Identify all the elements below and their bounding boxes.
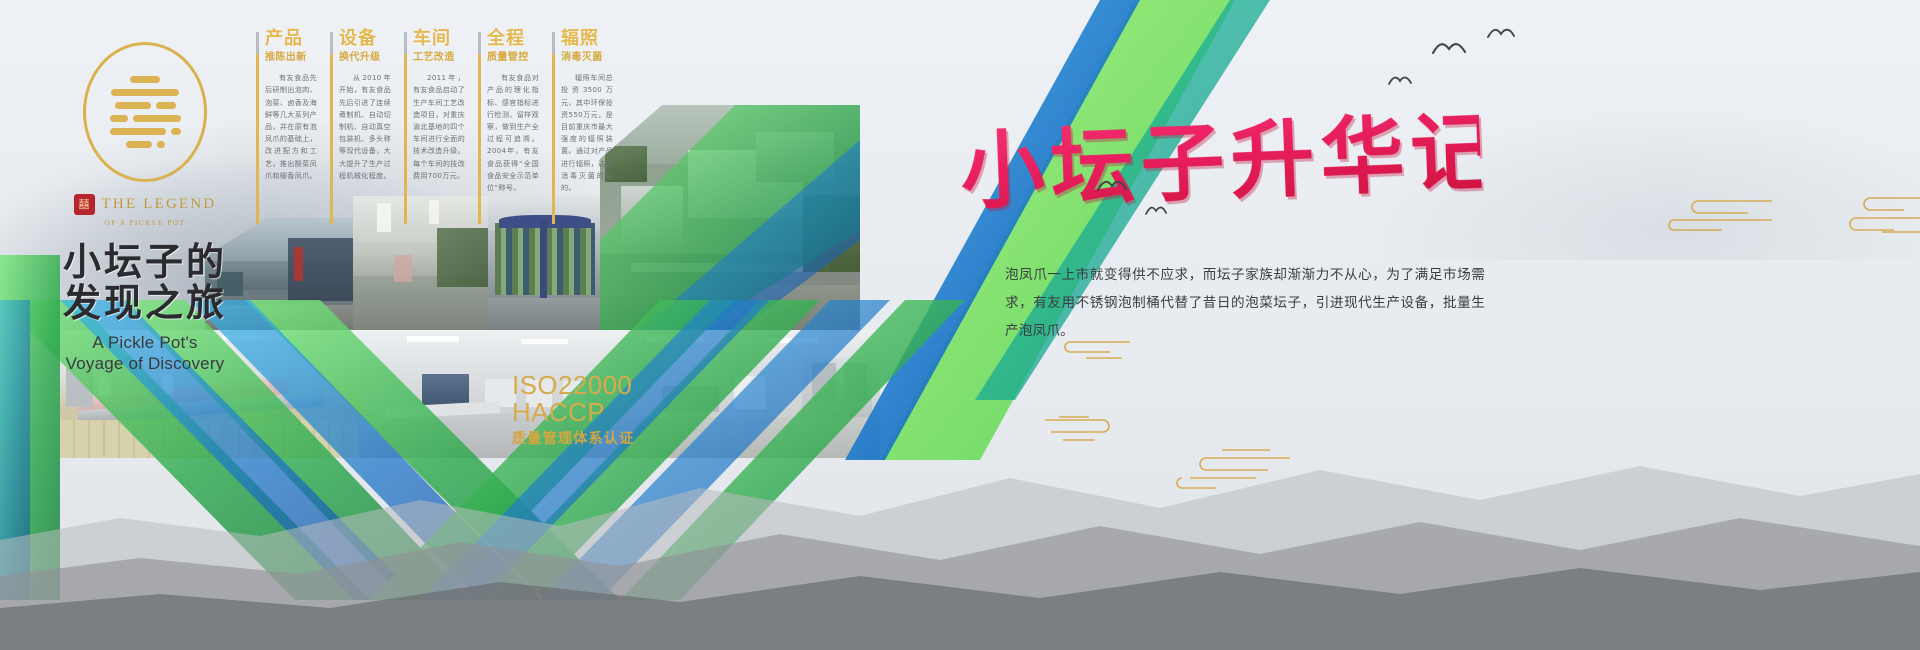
seal-bar-row xyxy=(102,141,188,148)
column-body: 2011年，有友食品启动了生产车间工艺改造项目，对重庆渝北基地的四个车间进行全面… xyxy=(413,72,465,182)
ink-mountain-silhouette xyxy=(0,350,1920,650)
info-column-irradiation: 辐照 消毒灭菌 辐照车间总投资3500万元，其中环保投资550万元，是目前重庆市… xyxy=(552,30,614,194)
seal-bar-row xyxy=(102,102,188,109)
column-body: 有友食品先后研制出泡肉、泡菜、卤香及海鲜等几大系列产品，并在原有泡凤爪的基础上，… xyxy=(265,72,317,182)
en-title-line-2: Voyage of Discovery xyxy=(40,354,250,375)
column-subtitle: 消毒灭菌 xyxy=(561,51,613,64)
seal-bar-row xyxy=(102,128,188,135)
column-rule xyxy=(256,32,259,224)
page-subtitle: A Pickle Pot's Voyage of Discovery xyxy=(40,333,250,374)
column-title: 产品 xyxy=(265,30,317,49)
certification-iso-line: ISO22000 xyxy=(512,372,634,399)
cn-title-line-1: 小坛子的 xyxy=(40,241,250,282)
pickle-pot-seal-logo xyxy=(83,42,207,182)
flying-bird-silhouette xyxy=(1097,178,1127,199)
info-column-product: 产品 推陈出新 有友食品先后研制出泡肉、泡菜、卤香及海鲜等几大系列产品，并在原有… xyxy=(256,30,318,182)
seal-bar-row xyxy=(102,115,188,122)
info-column-workshop: 车间 工艺改造 2011年，有友食品启动了生产车间工艺改造项目，对重庆渝北基地的… xyxy=(404,30,466,182)
legend-en-text: THE LEGEND xyxy=(102,196,217,213)
column-subtitle: 推陈出新 xyxy=(265,51,317,64)
seal-bar-row xyxy=(102,89,188,96)
certification-block: ISO22000 HACCP 质量管理体系认证 xyxy=(512,372,634,448)
seal-bar-row xyxy=(102,76,188,83)
column-body: 从2010年开始，有友食品先后引进了连续煮制机、自动切制机、自动真空包装机、多头… xyxy=(339,72,391,182)
column-rule xyxy=(478,32,481,224)
poster-canvas: 囍 THE LEGEND OF A PICKLE POT 小坛子的 发现之旅 A… xyxy=(0,0,1920,650)
legend-wordmark: 囍 THE LEGEND xyxy=(40,194,250,215)
flying-bird-silhouette xyxy=(1145,204,1167,222)
cn-title-line-2: 发现之旅 xyxy=(40,282,250,323)
calligraphy-headline: 小坛子升华记 xyxy=(958,85,1482,215)
column-rule xyxy=(330,32,333,224)
flying-bird-silhouette xyxy=(1432,40,1466,63)
en-title-line-1: A Pickle Pot's xyxy=(40,333,250,354)
column-title: 车间 xyxy=(413,30,465,49)
gold-cloud-motif xyxy=(1652,196,1772,232)
aerial-campus-photo xyxy=(600,105,860,330)
column-title: 全程 xyxy=(487,30,539,49)
column-title: 设备 xyxy=(339,30,391,49)
warehouse-corridor-photo xyxy=(353,196,488,330)
gold-cloud-motif xyxy=(1842,192,1920,238)
brand-block: 囍 THE LEGEND OF A PICKLE POT 小坛子的 发现之旅 A… xyxy=(40,42,250,375)
page-title: 小坛子的 发现之旅 xyxy=(40,241,250,323)
info-column-quality: 全程 质量管控 有友食品对产品的理化指标、感官指标进行检测，留样观察，做到生产全… xyxy=(478,30,540,194)
flying-bird-silhouette xyxy=(1388,74,1412,93)
certification-cn-line: 质量管理体系认证 xyxy=(512,428,634,448)
column-rule xyxy=(404,32,407,224)
fermentation-racks-photo xyxy=(488,196,602,330)
column-subtitle: 工艺改造 xyxy=(413,51,465,64)
column-body: 有友食品对产品的理化指标、感官指标进行检测，留样观察，做到生产全过程可追溯。20… xyxy=(487,72,539,194)
gold-cloud-motif xyxy=(1045,414,1165,456)
column-subtitle: 质量管控 xyxy=(487,51,539,64)
flying-bird-silhouette xyxy=(1487,26,1515,47)
headline-paragraph: 泡凤爪一上市就变得供不应求，而坛子家族却渐渐力不从心，为了满足市场需求，有友用不… xyxy=(1005,262,1485,346)
gold-cloud-motif xyxy=(1034,336,1130,362)
column-body: 辐照车间总投资3500万元，其中环保投资550万元，是目前重庆市最大强度的辐照装… xyxy=(561,72,613,194)
gold-cloud-motif xyxy=(1160,448,1290,490)
certification-haccp-line: HACCP xyxy=(512,399,634,426)
info-column-equipment: 设备 换代升级 从2010年开始，有友食品先后引进了连续煮制机、自动切制机、自动… xyxy=(330,30,392,182)
column-title: 辐照 xyxy=(561,30,613,49)
legend-sub-text: OF A PICKLE POT xyxy=(40,218,250,227)
column-rule xyxy=(552,32,555,224)
column-subtitle: 换代升级 xyxy=(339,51,391,64)
red-chop-icon: 囍 xyxy=(74,194,95,215)
